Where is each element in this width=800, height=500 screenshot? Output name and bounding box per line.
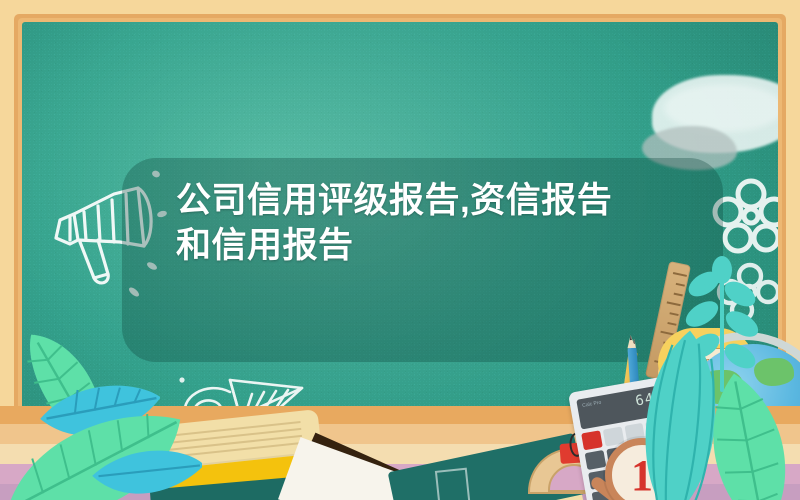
leaf-teal-far-right xyxy=(690,368,800,500)
banner-image: 公司信用评级报告,资信报告和信用报告 Tiny xyxy=(0,0,800,500)
calculator-brand: Calc Pro xyxy=(582,400,602,409)
leaf-blue-bottom-left xyxy=(92,426,202,500)
chalk-eraser-smudge-icon xyxy=(642,70,778,170)
page-title: 公司信用评级报告,资信报告和信用报告 xyxy=(176,178,646,268)
